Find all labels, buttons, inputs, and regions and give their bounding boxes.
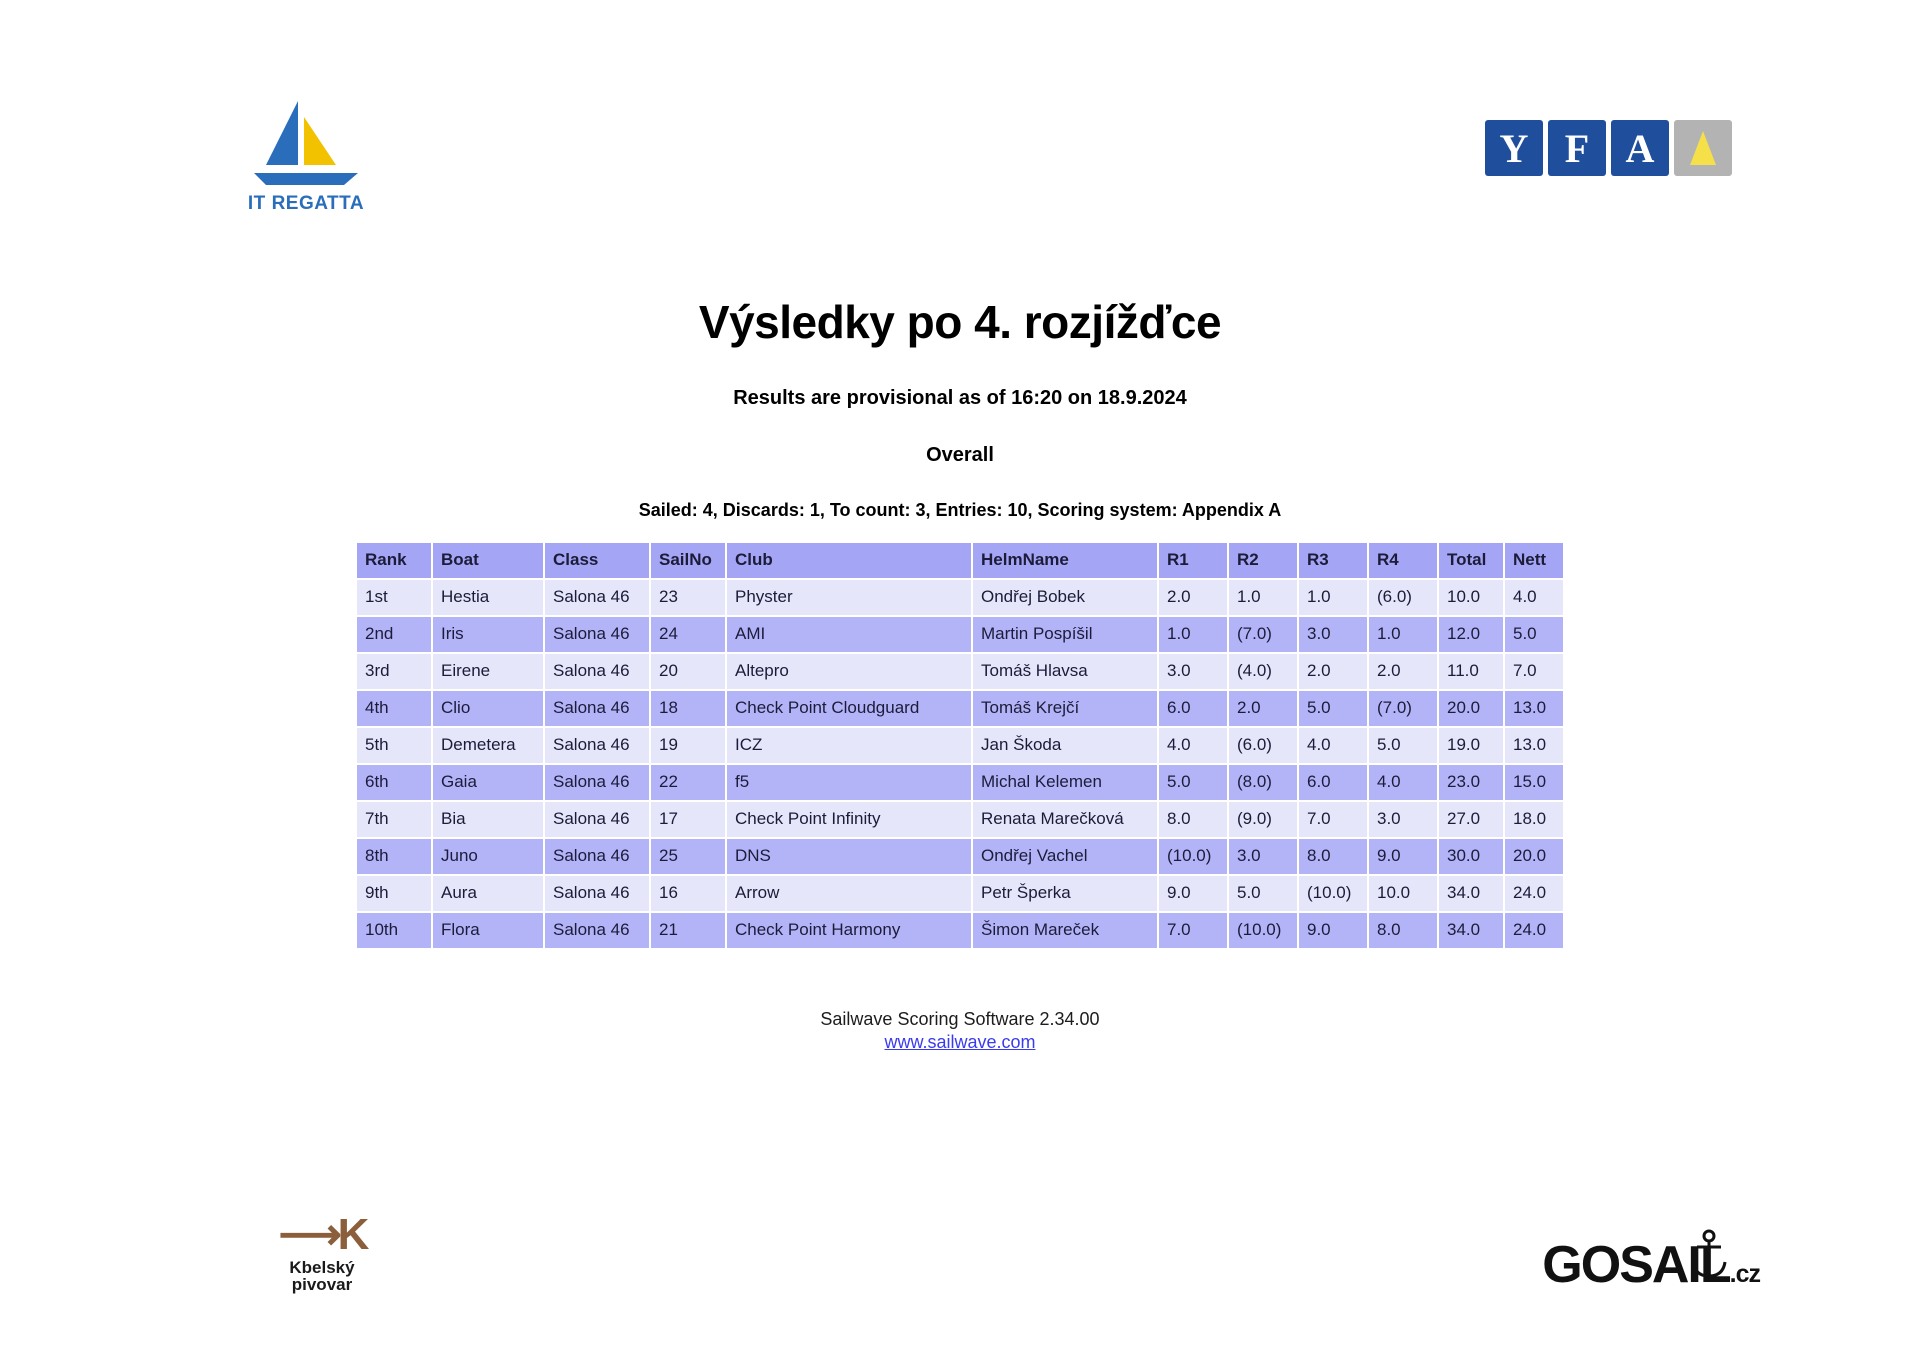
cell-total: 27.0 [1439, 802, 1503, 837]
cell-total: 34.0 [1439, 876, 1503, 911]
table-row: 2ndIrisSalona 4624AMIMartin Pospíšil1.0(… [357, 617, 1563, 652]
sailwave-link[interactable]: www.sailwave.com [884, 1032, 1035, 1052]
cell-r2: (9.0) [1229, 802, 1297, 837]
cell-rank: 1st [357, 580, 431, 615]
cell-nett: 13.0 [1505, 691, 1563, 726]
cell-r2: (6.0) [1229, 728, 1297, 763]
cell-r3: 9.0 [1299, 913, 1367, 948]
cell-rank: 5th [357, 728, 431, 763]
column-header-class[interactable]: Class [545, 543, 649, 578]
footer: Sailwave Scoring Software 2.34.00 www.sa… [0, 1008, 1920, 1053]
cell-r1: 3.0 [1159, 654, 1227, 689]
cell-r1: 1.0 [1159, 617, 1227, 652]
cell-total: 19.0 [1439, 728, 1503, 763]
cell-total: 10.0 [1439, 580, 1503, 615]
cell-sailno: 23 [651, 580, 725, 615]
results-table-container: Rank Boat Class SailNo Club HelmName R1 … [0, 541, 1920, 950]
cell-boat: Flora [433, 913, 543, 948]
cell-r4: 10.0 [1369, 876, 1437, 911]
cell-r2: 3.0 [1229, 839, 1297, 874]
cell-helm: Tomáš Hlavsa [973, 654, 1157, 689]
section-heading-overall: Overall [0, 444, 1920, 467]
cell-r4: 4.0 [1369, 765, 1437, 800]
cell-class: Salona 46 [545, 876, 649, 911]
cell-class: Salona 46 [545, 913, 649, 948]
cell-rank: 6th [357, 765, 431, 800]
cell-sailno: 21 [651, 913, 725, 948]
cell-sailno: 18 [651, 691, 725, 726]
cell-boat: Clio [433, 691, 543, 726]
table-header-row: Rank Boat Class SailNo Club HelmName R1 … [357, 543, 1563, 578]
column-header-club[interactable]: Club [727, 543, 971, 578]
cell-r1: 9.0 [1159, 876, 1227, 911]
cell-r2: (10.0) [1229, 913, 1297, 948]
cell-nett: 5.0 [1505, 617, 1563, 652]
cell-boat: Gaia [433, 765, 543, 800]
table-row: 10thFloraSalona 4621Check Point HarmonyŠ… [357, 913, 1563, 948]
cell-nett: 20.0 [1505, 839, 1563, 874]
cell-club: Check Point Cloudguard [727, 691, 971, 726]
cell-r4: 9.0 [1369, 839, 1437, 874]
cell-sailno: 25 [651, 839, 725, 874]
cell-nett: 18.0 [1505, 802, 1563, 837]
cell-club: Physter [727, 580, 971, 615]
cell-r4: 8.0 [1369, 913, 1437, 948]
cell-nett: 4.0 [1505, 580, 1563, 615]
column-header-helmname[interactable]: HelmName [973, 543, 1157, 578]
table-row: 7thBiaSalona 4617Check Point InfinityRen… [357, 802, 1563, 837]
kbelsky-pivovar-logo: ⟶K Kbelský pivovar [262, 1215, 382, 1294]
cell-r3: 3.0 [1299, 617, 1367, 652]
cell-helm: Michal Kelemen [973, 765, 1157, 800]
cell-boat: Demetera [433, 728, 543, 763]
cell-r4: 2.0 [1369, 654, 1437, 689]
cell-helm: Tomáš Krejčí [973, 691, 1157, 726]
cell-nett: 24.0 [1505, 913, 1563, 948]
cell-r3: 6.0 [1299, 765, 1367, 800]
cell-class: Salona 46 [545, 691, 649, 726]
cell-r1: 7.0 [1159, 913, 1227, 948]
cell-boat: Bia [433, 802, 543, 837]
cell-nett: 13.0 [1505, 728, 1563, 763]
table-row: 8thJunoSalona 4625DNSOndřej Vachel(10.0)… [357, 839, 1563, 874]
cell-r1: 2.0 [1159, 580, 1227, 615]
table-row: 1stHestiaSalona 4623PhysterOndřej Bobek2… [357, 580, 1563, 615]
cell-r4: 1.0 [1369, 617, 1437, 652]
cell-class: Salona 46 [545, 839, 649, 874]
column-header-r4[interactable]: R4 [1369, 543, 1437, 578]
cell-r2: 5.0 [1229, 876, 1297, 911]
cell-r1: 6.0 [1159, 691, 1227, 726]
cell-rank: 2nd [357, 617, 431, 652]
cell-r2: (8.0) [1229, 765, 1297, 800]
cell-r4: 3.0 [1369, 802, 1437, 837]
cell-helm: Šimon Mareček [973, 913, 1157, 948]
cell-helm: Jan Škoda [973, 728, 1157, 763]
results-table-body: 1stHestiaSalona 4623PhysterOndřej Bobek2… [357, 580, 1563, 948]
gosail-tld: .cz [1730, 1260, 1760, 1289]
cell-r4: (6.0) [1369, 580, 1437, 615]
series-summary: Sailed: 4, Discards: 1, To count: 3, Ent… [0, 500, 1920, 521]
cell-helm: Ondřej Bobek [973, 580, 1157, 615]
cell-sailno: 20 [651, 654, 725, 689]
kbelsky-line2: pivovar [262, 1276, 382, 1294]
cell-boat: Eirene [433, 654, 543, 689]
page-title: Výsledky po 4. rozjížďce [0, 295, 1920, 349]
cell-total: 20.0 [1439, 691, 1503, 726]
cell-sailno: 24 [651, 617, 725, 652]
table-row: 9thAuraSalona 4616ArrowPetr Šperka9.05.0… [357, 876, 1563, 911]
table-row: 6thGaiaSalona 4622f5Michal Kelemen5.0(8.… [357, 765, 1563, 800]
cell-boat: Juno [433, 839, 543, 874]
cell-r3: 1.0 [1299, 580, 1367, 615]
anchor-icon [1686, 1228, 1732, 1280]
cell-class: Salona 46 [545, 580, 649, 615]
cell-club: Check Point Harmony [727, 913, 971, 948]
cell-class: Salona 46 [545, 617, 649, 652]
results-document: Výsledky po 4. rozjížďce Results are pro… [0, 0, 1920, 1053]
cell-sailno: 19 [651, 728, 725, 763]
table-row: 3rdEireneSalona 4620AlteproTomáš Hlavsa3… [357, 654, 1563, 689]
cell-total: 11.0 [1439, 654, 1503, 689]
cell-boat: Iris [433, 617, 543, 652]
cell-rank: 10th [357, 913, 431, 948]
cell-class: Salona 46 [545, 654, 649, 689]
cell-club: Altepro [727, 654, 971, 689]
cell-r1: 5.0 [1159, 765, 1227, 800]
cell-sailno: 16 [651, 876, 725, 911]
cell-r1: 4.0 [1159, 728, 1227, 763]
cell-r1: 8.0 [1159, 802, 1227, 837]
cell-total: 23.0 [1439, 765, 1503, 800]
cell-nett: 7.0 [1505, 654, 1563, 689]
cell-helm: Petr Šperka [973, 876, 1157, 911]
cell-r4: 5.0 [1369, 728, 1437, 763]
cell-sailno: 17 [651, 802, 725, 837]
cell-sailno: 22 [651, 765, 725, 800]
cell-club: ICZ [727, 728, 971, 763]
cell-rank: 8th [357, 839, 431, 874]
cell-r1: (10.0) [1159, 839, 1227, 874]
cell-helm: Renata Marečková [973, 802, 1157, 837]
cell-boat: Hestia [433, 580, 543, 615]
cell-r3: 2.0 [1299, 654, 1367, 689]
cell-r2: (4.0) [1229, 654, 1297, 689]
cell-r3: (10.0) [1299, 876, 1367, 911]
cell-total: 12.0 [1439, 617, 1503, 652]
cell-total: 34.0 [1439, 913, 1503, 948]
cell-r2: 2.0 [1229, 691, 1297, 726]
cell-club: Check Point Infinity [727, 802, 971, 837]
kbelsky-mark-icon: ⟶K [262, 1215, 382, 1255]
cell-r3: 7.0 [1299, 802, 1367, 837]
column-header-nett[interactable]: Nett [1505, 543, 1563, 578]
cell-r2: 1.0 [1229, 580, 1297, 615]
cell-rank: 9th [357, 876, 431, 911]
table-row: 5thDemeteraSalona 4619ICZJan Škoda4.0(6.… [357, 728, 1563, 763]
column-header-total[interactable]: Total [1439, 543, 1503, 578]
cell-club: AMI [727, 617, 971, 652]
cell-nett: 24.0 [1505, 876, 1563, 911]
cell-class: Salona 46 [545, 802, 649, 837]
cell-total: 30.0 [1439, 839, 1503, 874]
provisional-notice: Results are provisional as of 16:20 on 1… [0, 387, 1920, 410]
column-header-sailno[interactable]: SailNo [651, 543, 725, 578]
cell-r3: 5.0 [1299, 691, 1367, 726]
cell-r3: 4.0 [1299, 728, 1367, 763]
table-row: 4thClioSalona 4618Check Point Cloudguard… [357, 691, 1563, 726]
column-header-boat[interactable]: Boat [433, 543, 543, 578]
cell-helm: Martin Pospíšil [973, 617, 1157, 652]
cell-rank: 7th [357, 802, 431, 837]
column-header-r2[interactable]: R2 [1229, 543, 1297, 578]
column-header-r1[interactable]: R1 [1159, 543, 1227, 578]
cell-r4: (7.0) [1369, 691, 1437, 726]
results-table: Rank Boat Class SailNo Club HelmName R1 … [355, 541, 1565, 950]
column-header-rank[interactable]: Rank [357, 543, 431, 578]
cell-nett: 15.0 [1505, 765, 1563, 800]
cell-helm: Ondřej Vachel [973, 839, 1157, 874]
column-header-r3[interactable]: R3 [1299, 543, 1367, 578]
cell-club: Arrow [727, 876, 971, 911]
software-credit: Sailwave Scoring Software 2.34.00 [0, 1008, 1920, 1031]
cell-rank: 3rd [357, 654, 431, 689]
cell-rank: 4th [357, 691, 431, 726]
kbelsky-line1: Kbelský [262, 1259, 382, 1277]
cell-r3: 8.0 [1299, 839, 1367, 874]
cell-class: Salona 46 [545, 728, 649, 763]
cell-club: f5 [727, 765, 971, 800]
cell-r2: (7.0) [1229, 617, 1297, 652]
cell-class: Salona 46 [545, 765, 649, 800]
cell-boat: Aura [433, 876, 543, 911]
cell-club: DNS [727, 839, 971, 874]
